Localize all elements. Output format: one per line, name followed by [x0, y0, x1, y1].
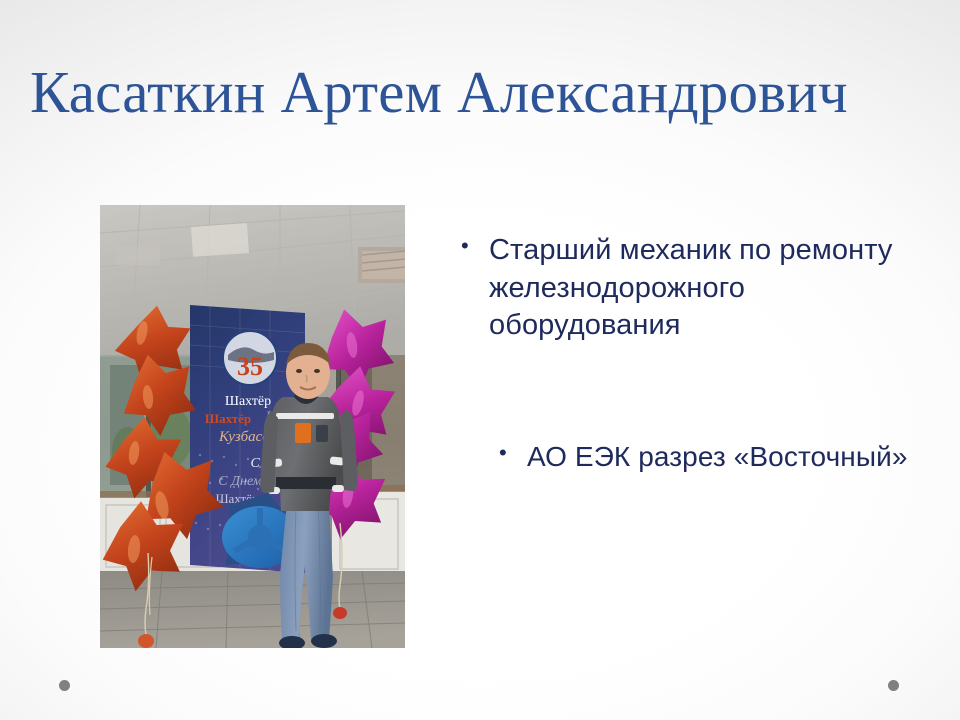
- bullet-marker-icon: •: [493, 439, 527, 468]
- decorative-dot-right: [888, 680, 899, 691]
- body-text-block: • Старший механик по ремонту железнодоро…: [455, 232, 925, 475]
- slide-canvas: Касаткин Артем Александрович: [0, 0, 960, 720]
- svg-text:Шахтёр: Шахтёр: [205, 411, 251, 426]
- photo-image: 35 Шахтёр Шахтёр Кузб Кузбасса! С Днё С …: [100, 205, 405, 648]
- bullet-marker-icon: •: [455, 232, 489, 261]
- bullet-item-company: • АО ЕЭК разрез «Восточный»: [493, 439, 925, 475]
- decorative-dot-left: [59, 680, 70, 691]
- bullet-text-company: АО ЕЭК разрез «Восточный»: [527, 439, 925, 475]
- page-title: Касаткин Артем Александрович: [30, 62, 930, 123]
- bullet-item-role: • Старший механик по ремонту железнодоро…: [455, 232, 925, 345]
- svg-text:С Днем: С Днем: [218, 474, 262, 489]
- svg-text:Шахтёр: Шахтёр: [225, 394, 271, 409]
- bullet-text-role: Старший механик по ремонту железнодорожн…: [489, 232, 925, 345]
- svg-text:35: 35: [237, 352, 263, 381]
